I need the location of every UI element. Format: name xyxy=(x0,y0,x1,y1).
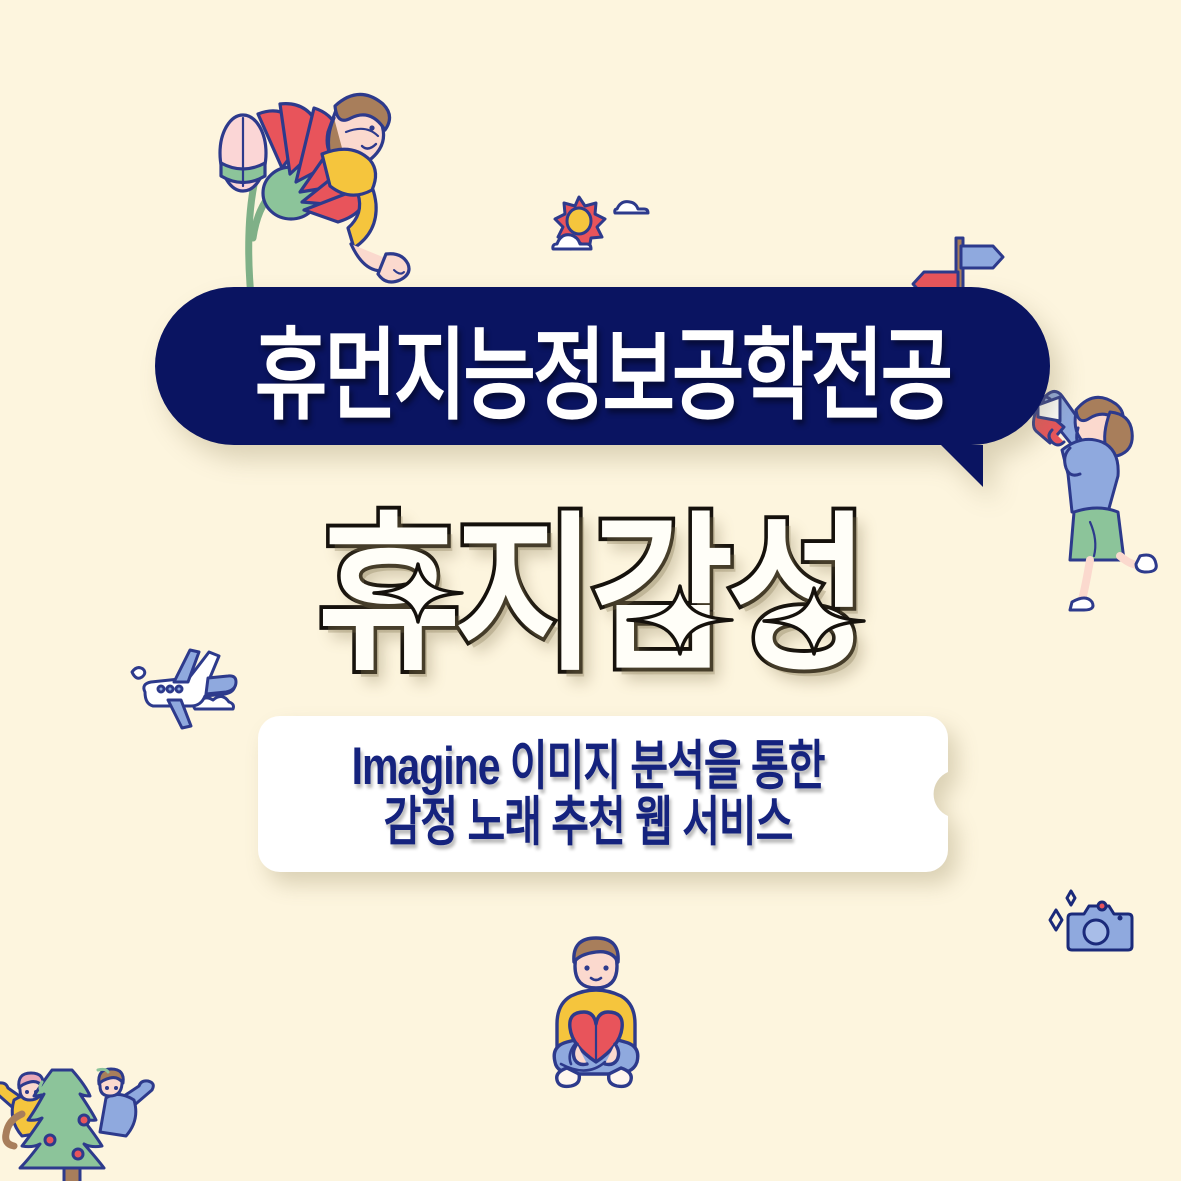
tree-kids-illustration xyxy=(0,1042,157,1181)
subtitle-line-2: 감정 노래 추천 웹 서비스 xyxy=(384,794,793,849)
poster-title-text: 휴지감성 xyxy=(317,456,863,702)
sun-clouds-icon xyxy=(543,185,658,260)
subtitle-text-block: Imagine 이미지 분석을 통한 감정 노래 추천 웹 서비스 xyxy=(258,716,918,872)
poster-canvas: 휴먼지능정보공학전공 휴지감성 Imagine 이미지 분 xyxy=(0,0,1181,1181)
poster-title: 휴지감성 xyxy=(0,492,1181,667)
heart-person-illustration xyxy=(531,932,661,1092)
subtitle-card: Imagine 이미지 분석을 통한 감정 노래 추천 웹 서비스 xyxy=(258,716,948,872)
banner-label: 휴먼지능정보공학전공 xyxy=(173,270,1032,463)
camera-icon xyxy=(1034,884,1149,959)
subtitle-line-1: Imagine 이미지 분석을 통한 xyxy=(352,739,825,794)
